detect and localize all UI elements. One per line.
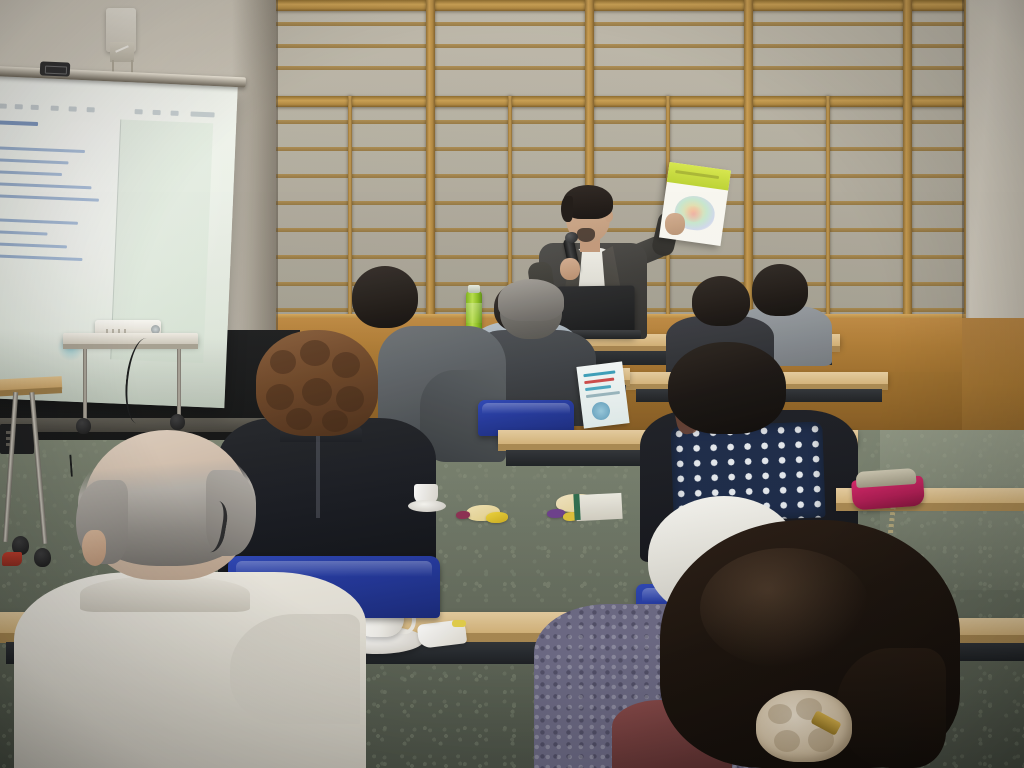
presenter-hand-holding-mic [560,258,580,280]
long-haired-woman-ponytail [836,648,946,768]
audience-gray-man-hair [498,279,564,321]
corner-column [966,0,1024,330]
notebook-spine [573,494,580,520]
left-wall-shadow [232,0,278,340]
hair-sheen [700,548,870,668]
cart-caster [170,414,185,430]
audience-curly-woman-hair [256,330,378,436]
projection-screen [0,76,238,408]
wall-speaker-body [110,42,134,62]
napkin-yellow-tab [452,620,466,627]
wrapped-candy [456,511,470,519]
small-saucer [408,500,446,512]
floor-outlet-box [0,424,34,454]
cart-leg [177,349,181,423]
audience-patterned-vest-hair [668,342,786,434]
screen-bracket-icon [40,61,71,76]
column-edge-shadow [962,0,970,330]
elderly-man-collar [80,576,250,612]
photo-scene [0,0,1024,768]
presenter-goatee [577,228,595,242]
notebook-green-spine [575,493,622,521]
table-foot [34,548,51,567]
column-wainscot [962,318,1024,438]
red-floor-object [2,552,22,566]
elderly-man-ear [82,530,106,566]
wrapped-candy [486,512,508,523]
audience-person-back-right-head [752,264,808,316]
presenter-hand-holding-booklet [665,213,685,235]
jacket-seam [316,432,320,518]
presenter-sideburn [561,196,573,222]
audience-person-back-center-head [692,276,750,326]
cart-caster [76,418,91,434]
bottle-cap [468,285,480,293]
bottle-label [466,303,482,323]
shirt-fold-shading [230,614,360,724]
cart-leg [83,349,87,425]
audience-gray-blue-jacket-head [352,266,418,328]
